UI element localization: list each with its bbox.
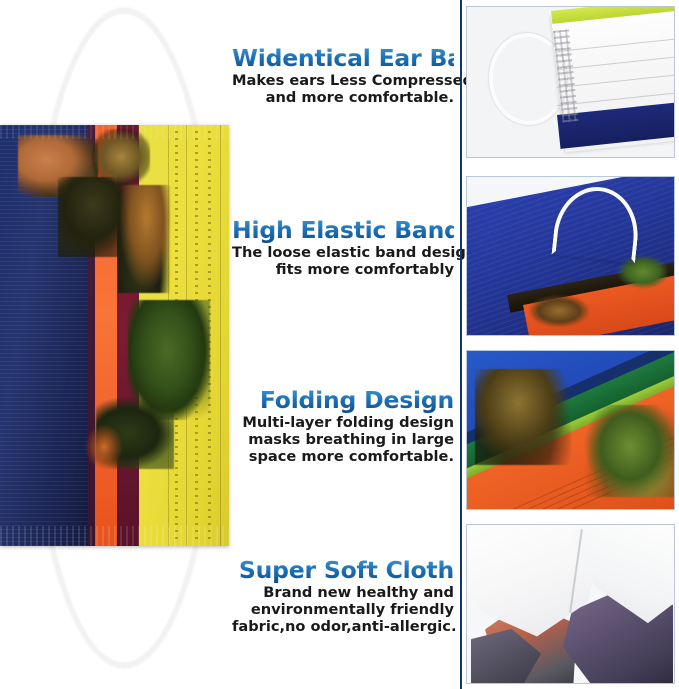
feature-description-line: fits more comfortably <box>232 262 454 279</box>
lizard-print-motif <box>118 185 170 293</box>
feature-description: The loose elastic band design fits more … <box>232 245 454 279</box>
feature-description-line: masks breathing in large <box>232 432 454 449</box>
mask-top-stitching <box>0 125 229 139</box>
feature-description: Brand new healthy and environmentally fr… <box>232 585 454 636</box>
feature-description: Makes ears Less Compressed and more comf… <box>232 73 454 107</box>
feature-list: Widentical Ear Band Makes ears Less Comp… <box>232 0 460 689</box>
thumbnail-column <box>460 0 679 689</box>
feature-description: Multi-layer folding design masks breathi… <box>232 415 454 466</box>
thumbnail-soft-cloth <box>466 524 675 684</box>
feature-block-soft-cloth: Super Soft Cloth Brand new healthy and e… <box>232 558 460 636</box>
feature-title: Folding Design <box>232 388 454 413</box>
feature-block-ear-band: Widentical Ear Band Makes ears Less Comp… <box>232 46 460 107</box>
feature-title: Widentical Ear Band <box>232 46 454 71</box>
feature-description-line: and more comfortable. <box>232 90 454 107</box>
column-divider <box>460 0 462 689</box>
lizard-print-motif <box>585 405 674 497</box>
pleat-line <box>220 125 221 546</box>
feature-description-line: The loose elastic band design <box>232 245 454 262</box>
lizard-print-motif <box>86 425 122 469</box>
feature-description-line: environmentally friendly <box>232 602 454 619</box>
feature-block-folding-design: Folding Design Multi-layer folding desig… <box>232 388 460 466</box>
hero-product-image <box>0 0 232 689</box>
lizard-print-motif <box>529 295 589 327</box>
feature-title: High Elastic Band <box>232 218 454 243</box>
feature-description-line: fabric,no odor,anti-allergic. <box>232 619 454 636</box>
feature-description-line: Makes ears Less Compressed <box>232 73 454 90</box>
thumbnail-elastic-band <box>466 176 675 336</box>
mask-product-photo <box>0 125 229 546</box>
feature-description-line: space more comfortable. <box>232 449 454 466</box>
feature-block-elastic-band: High Elastic Band The loose elastic band… <box>232 218 460 279</box>
feature-title: Super Soft Cloth <box>232 558 454 583</box>
thumbnail-ear-band <box>466 6 675 158</box>
feature-description-line: Brand new healthy and <box>232 585 454 602</box>
thumbnail-folding-design <box>466 350 675 510</box>
lizard-print-motif <box>475 369 571 465</box>
feature-description-line: Multi-layer folding design <box>232 415 454 432</box>
mask-bottom-stitching <box>0 526 229 546</box>
